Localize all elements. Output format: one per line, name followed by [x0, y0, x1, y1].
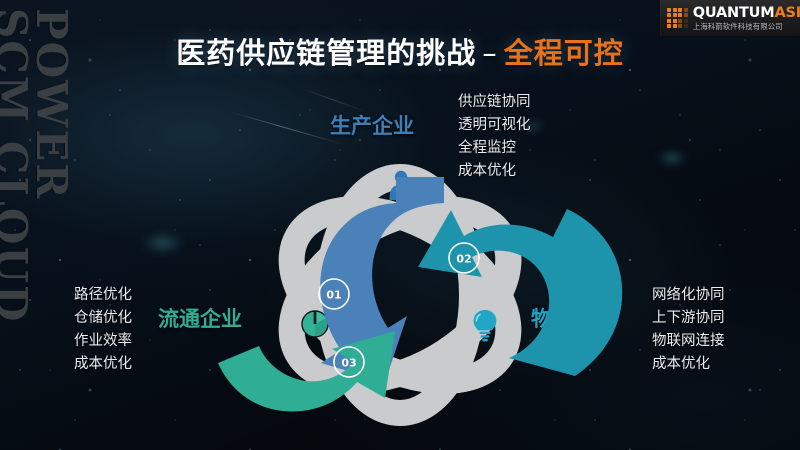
pie-chart-icon [302, 311, 328, 337]
logo-dot-grid-icon [667, 8, 688, 29]
page-title-main: 医药供应链管理的挑战 [176, 36, 476, 70]
page-title: 医药供应链管理的挑战–全程可控 [0, 30, 800, 72]
logo-wordmark-primary: QUANTUM [693, 5, 775, 21]
slide-canvas: POWER SCM CLOUD QUANTUMASIA 上海科箭软件科技有限公司… [0, 0, 800, 450]
arrow-number-01: 01 [326, 289, 341, 302]
logo-text-block: QUANTUMASIA 上海科箭软件科技有限公司 [693, 6, 800, 30]
arrow-number-03: 03 [341, 357, 356, 370]
callout-line: 供应链协同 [458, 91, 531, 114]
trefoil-cycle-diagram: 01 02 03 [55, 120, 745, 420]
logo-wordmark-accent: ASIA [775, 5, 800, 21]
page-title-accent: 全程可控 [504, 36, 624, 70]
logo-wordmark: QUANTUMASIA [693, 6, 800, 21]
arrow-number-02: 02 [456, 253, 471, 266]
page-title-dash: – [482, 36, 498, 70]
